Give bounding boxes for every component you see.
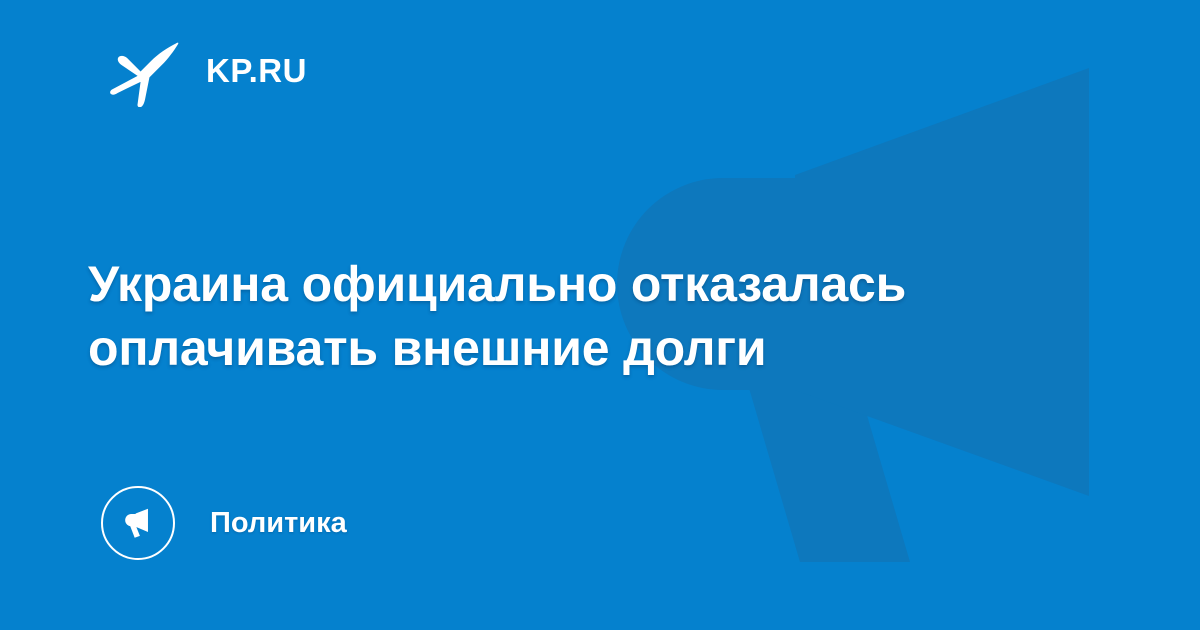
page-title: Украина официально отказалась оплачивать… [88, 252, 1068, 380]
site-logo[interactable]: KP.RU [108, 33, 307, 107]
swallow-bird-icon [108, 33, 182, 107]
headline-line-2: оплачивать внешние долги [88, 316, 1068, 380]
brand-name: KP.RU [206, 54, 307, 87]
headline-line-1: Украина официально отказалась [88, 252, 1068, 316]
megaphone-icon [101, 486, 175, 560]
social-share-card: KP.RU Украина официально отказалась опла… [0, 0, 1200, 630]
category-badge[interactable]: Политика [101, 486, 347, 560]
category-label: Политика [210, 509, 347, 538]
